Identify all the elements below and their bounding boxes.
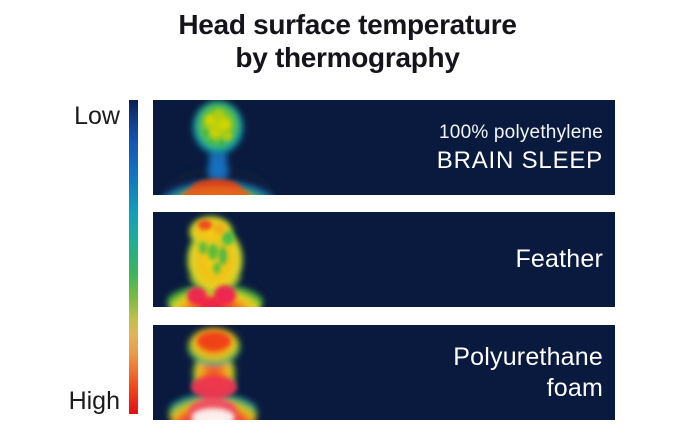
panel-labels-feather: Feather <box>515 212 603 307</box>
panel-sublabel-brain-sleep: 100% polyethylene <box>439 120 603 146</box>
legend-low-label: Low <box>74 102 120 131</box>
thermal-image-feather <box>153 212 383 307</box>
thermal-image-polyurethane-foam <box>153 325 383 420</box>
panel-labels-polyurethane-foam: Polyurethane foam <box>453 325 603 420</box>
panel-title-polyurethane-foam-line2: foam <box>547 373 603 404</box>
panel-title-brain-sleep: BRAIN SLEEP <box>437 146 603 176</box>
thermal-image-brain-sleep <box>153 100 383 195</box>
legend-high-label: High <box>69 387 120 416</box>
thermogram-panel-feather: Feather <box>153 212 615 307</box>
legend-gradient-bar <box>129 100 138 414</box>
page-title: Head surface temperature by thermography <box>0 8 695 74</box>
title-line-2: by thermography <box>0 41 695 74</box>
panel-labels-brain-sleep: 100% polyethylene BRAIN SLEEP <box>437 100 603 195</box>
thermogram-panel-brain-sleep: 100% polyethylene BRAIN SLEEP <box>153 100 615 195</box>
temperature-legend: Low High <box>44 98 140 416</box>
panel-title-feather: Feather <box>515 244 603 275</box>
panel-title-polyurethane-foam-line1: Polyurethane <box>453 342 603 373</box>
title-line-1: Head surface temperature <box>0 8 695 41</box>
thermogram-panel-polyurethane-foam: Polyurethane foam <box>153 325 615 420</box>
